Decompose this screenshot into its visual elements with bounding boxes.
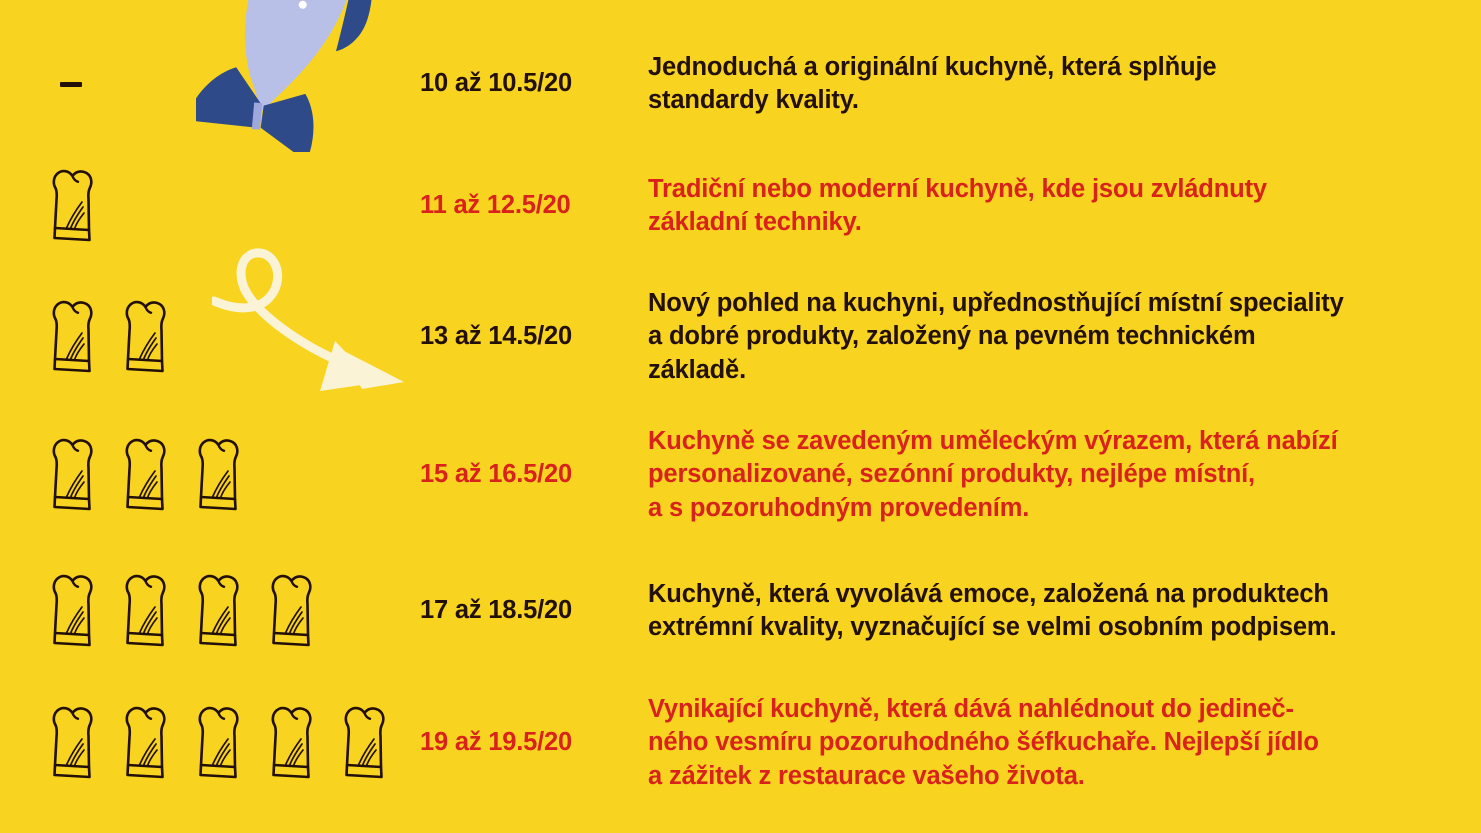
description-line: Kuchyně, která vyvolává emoce, založená …	[648, 578, 1447, 611]
chef-hat-icon	[123, 299, 167, 375]
chef-hat-icon	[50, 299, 94, 375]
score-range-label: 19 až 19.5/20	[420, 728, 648, 757]
dash-mark-icon	[60, 82, 82, 87]
chef-hat-icon	[196, 705, 240, 781]
hat-count-cell	[0, 299, 420, 375]
chef-hat-icon	[50, 168, 94, 244]
chef-hat-icon	[50, 573, 94, 649]
description-line: základě.	[648, 354, 1447, 387]
description-line: Vynikající kuchyně, která dává nahlédnou…	[648, 693, 1447, 726]
description-line: personalizované, sezónní produkty, nejlé…	[648, 458, 1447, 491]
description-line: a s pozoruhodným provedením.	[648, 492, 1447, 525]
description-line: Nový pohled na kuchyni, upřednostňující …	[648, 287, 1447, 320]
chef-hat-icon	[269, 573, 313, 649]
chef-hat-icon	[50, 437, 94, 513]
description-text: Tradiční nebo moderní kuchyně, kde jsou …	[648, 173, 1481, 239]
rating-row: 15 až 16.5/20Kuchyně se zavedeným umělec…	[0, 416, 1481, 534]
chef-hat-icon	[342, 705, 386, 781]
chef-hat-icon	[123, 437, 167, 513]
description-line: standardy kvality.	[648, 84, 1447, 117]
rating-row: 19 až 19.5/20Vynikající kuchyně, která d…	[0, 684, 1481, 802]
description-line: Kuchyně se zavedeným uměleckým výrazem, …	[648, 425, 1447, 458]
hat-count-cell	[0, 437, 420, 513]
score-range-label: 11 až 12.5/20	[420, 191, 648, 220]
description-line: základní techniky.	[648, 206, 1447, 239]
description-line: ného vesmíru pozoruhodného šéfkuchaře. N…	[648, 726, 1447, 759]
description-line: a dobré produkty, založený na pevném tec…	[648, 320, 1447, 353]
chef-hat-icon	[196, 573, 240, 649]
description-text: Vynikající kuchyně, která dává nahlédnou…	[648, 693, 1481, 792]
hat-count-cell	[0, 573, 420, 649]
rating-row: 17 až 18.5/20Kuchyně, která vyvolává emo…	[0, 565, 1481, 657]
chef-hat-icon	[123, 573, 167, 649]
score-range-label: 15 až 16.5/20	[420, 460, 648, 489]
description-text: Nový pohled na kuchyni, upřednostňující …	[648, 287, 1481, 386]
description-text: Jednoduchá a originální kuchyně, která s…	[648, 51, 1481, 117]
description-line: a zážitek z restaurace vašeho života.	[648, 760, 1447, 793]
description-text: Kuchyně se zavedeným uměleckým výrazem, …	[648, 425, 1481, 524]
chef-hat-icon	[123, 705, 167, 781]
description-line: Tradiční nebo moderní kuchyně, kde jsou …	[648, 173, 1447, 206]
rating-row: 11 až 12.5/20Tradiční nebo moderní kuchy…	[0, 160, 1481, 252]
rating-row: 13 až 14.5/20Nový pohled na kuchyni, upř…	[0, 278, 1481, 396]
description-line: extrémní kvality, vyznačující se velmi o…	[648, 611, 1447, 644]
chef-hat-icon	[50, 705, 94, 781]
chef-hat-icon	[269, 705, 313, 781]
hat-count-cell	[0, 82, 420, 87]
score-range-label: 17 až 18.5/20	[420, 596, 648, 625]
hat-count-cell	[0, 705, 420, 781]
description-text: Kuchyně, která vyvolává emoce, založená …	[648, 578, 1481, 644]
score-range-label: 13 až 14.5/20	[420, 322, 648, 351]
rating-row: 10 až 10.5/20Jednoduchá a originální kuc…	[0, 38, 1481, 130]
hat-count-cell	[0, 168, 420, 244]
description-line: Jednoduchá a originální kuchyně, která s…	[648, 51, 1447, 84]
rating-scale-infographic: 10 až 10.5/20Jednoduchá a originální kuc…	[0, 0, 1481, 833]
score-range-label: 10 až 10.5/20	[420, 69, 648, 98]
chef-hat-icon	[196, 437, 240, 513]
